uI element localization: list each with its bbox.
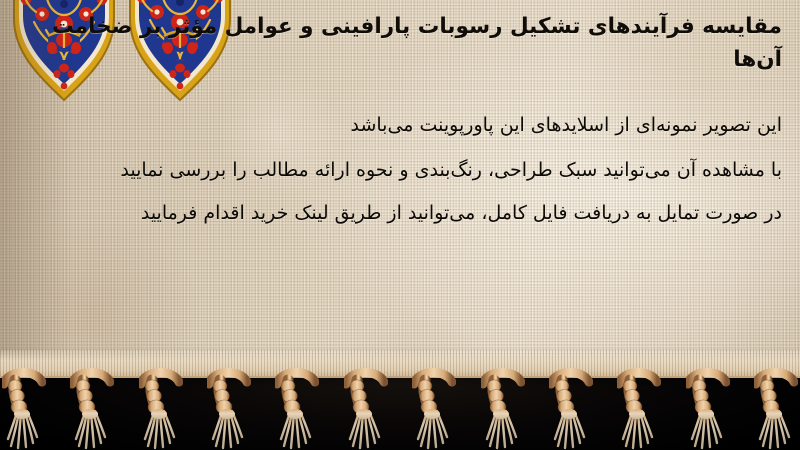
fringe-tassel	[412, 368, 456, 450]
body-line-sample-notice: این تصویر نمونه‌ای از اسلایدهای این پاور…	[18, 114, 782, 136]
fringe-tassel	[549, 368, 593, 450]
carpet-selvage-band	[0, 350, 800, 378]
body-line-design-review: با مشاهده آن می‌توانید سبک طراحی، رنگ‌بن…	[18, 159, 782, 181]
slide-title-line-1: مقایسه فرآیندهای تشکیل رسوبات پارافینی و…	[140, 14, 782, 39]
fringe-tassel	[686, 368, 730, 450]
carpet-bottom-edge	[0, 350, 800, 450]
body-line-purchase-link: در صورت تمایل به دریافت فایل کامل، می‌تو…	[18, 202, 782, 224]
slide-canvas: مقایسه فرآیندهای تشکیل رسوبات پارافینی و…	[0, 0, 800, 450]
slide-body: این تصویر نمونه‌ای از اسلایدهای این پاور…	[18, 114, 782, 224]
fringe-tassel	[2, 368, 46, 450]
slide-title: مقایسه فرآیندهای تشکیل رسوبات پارافینی و…	[18, 10, 782, 76]
black-backdrop	[0, 372, 800, 450]
fringe-tassel	[70, 368, 114, 450]
fringe-tassel	[275, 368, 319, 450]
fringe-tassel	[207, 368, 251, 450]
carpet-fringe-tassels	[0, 368, 800, 450]
fringe-tassel	[481, 368, 525, 450]
fringe-tassel	[617, 368, 661, 450]
fringe-tassel	[754, 368, 798, 450]
fringe-tassel	[344, 368, 388, 450]
fringe-tassel	[139, 368, 183, 450]
